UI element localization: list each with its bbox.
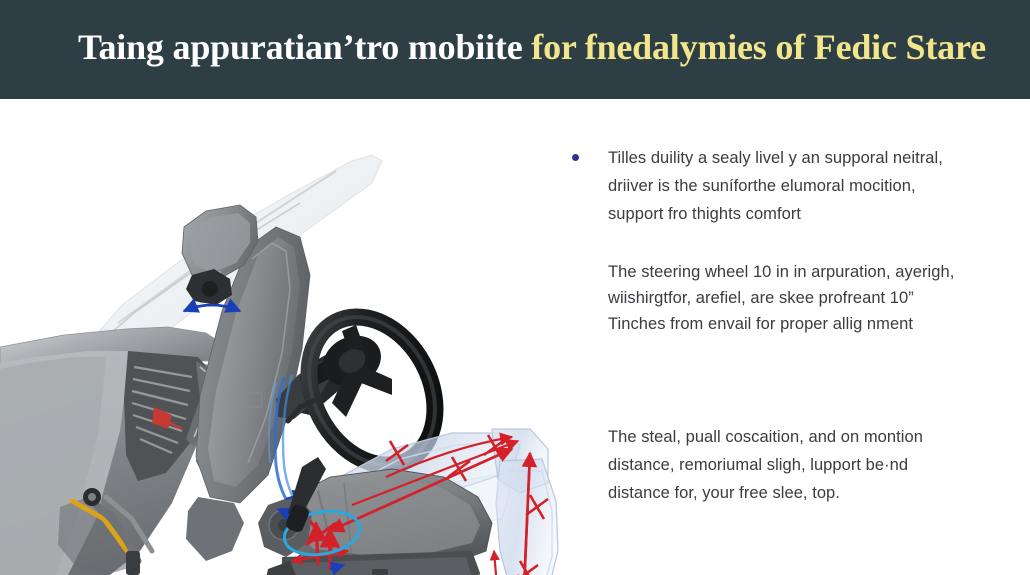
paragraph-2: The steering wheel 10 in in arрuration, … bbox=[566, 259, 996, 337]
page-title: Taing appuratian’tro mobiite for fnedaly… bbox=[78, 24, 986, 70]
paragraph-2-line-3: Tinches from envail for proper allig nme… bbox=[608, 311, 996, 337]
paragraph-3-line-3: distance for, your free slee, top. bbox=[608, 479, 996, 507]
car-seat-ergonomics-illustration bbox=[0, 99, 604, 575]
bullet-paragraph-1: Tilles duility a sealy livel y an suppor… bbox=[566, 144, 996, 228]
paragraph-1-line-2: driiver is the suníforthe elumoral mocit… bbox=[608, 172, 996, 200]
page-title-accent: for fnedalymies of Fedic Stare bbox=[531, 27, 986, 67]
paragraph-1-line-1: Tilles duility a sealy livel y an suppor… bbox=[608, 144, 996, 172]
content-area: Tilles duility a sealy livel y an suppor… bbox=[0, 99, 1030, 575]
header-band: Taing appuratian’tro mobiite for fnedaly… bbox=[0, 0, 1030, 99]
paragraph-3-line-2: distance, remoriumal sligh, lupport be·n… bbox=[608, 451, 996, 479]
page-title-primary: Taing appuratian’tro mobiite bbox=[78, 27, 531, 67]
paragraph-3-line-1: The steal, puall coscaition, and on mont… bbox=[608, 423, 996, 451]
paragraph-1-line-3: support fro thights comfort bbox=[608, 200, 996, 228]
illustration-svg bbox=[0, 99, 604, 575]
paragraph-3: The steal, puall coscaition, and on mont… bbox=[566, 423, 996, 507]
bullet-dot-icon bbox=[572, 154, 579, 161]
paragraph-2-line-2: wiishirgtfor, arefiel, are skee profrean… bbox=[608, 285, 996, 311]
paragraph-2-line-1: The steering wheel 10 in in arрuration, … bbox=[608, 259, 996, 285]
text-column: Tilles duility a sealy livel y an suppor… bbox=[566, 144, 996, 507]
